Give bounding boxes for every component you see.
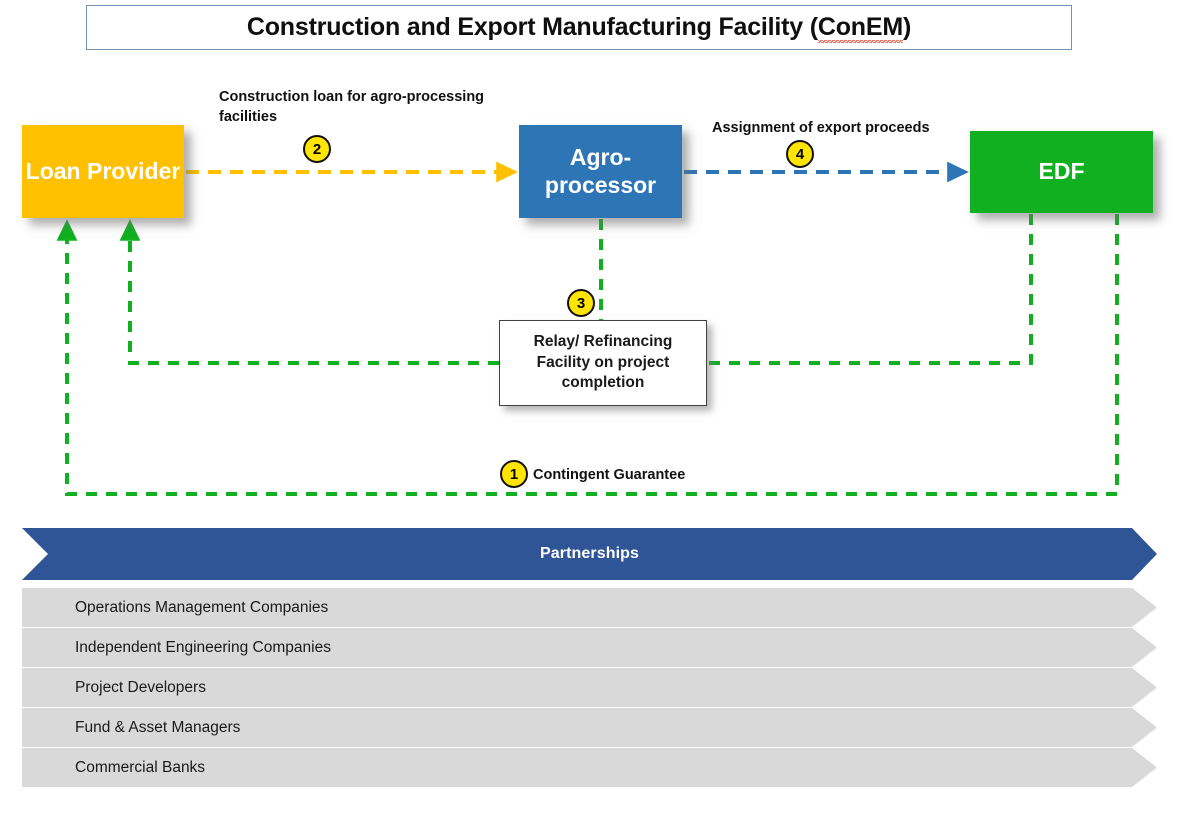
entity-loan-provider[interactable]: Loan Provider <box>22 125 184 218</box>
partnerships-list: Operations Management Companies Independ… <box>22 588 1157 788</box>
list-item-label: Fund & Asset Managers <box>22 719 240 737</box>
partnerships-title: Partnerships <box>540 545 639 563</box>
flow-line-relay-from-edf <box>707 214 1031 363</box>
diagram-canvas: Construction and Export Manufacturing Fa… <box>0 0 1194 817</box>
list-item[interactable]: Project Developers <box>22 668 1157 707</box>
partnerships-banner: Partnerships <box>22 528 1157 580</box>
step-badge-1: 1 <box>500 460 528 488</box>
entity-edf[interactable]: EDF <box>970 131 1153 213</box>
title-text-main: Construction and Export Manufacturing Fa… <box>247 13 818 41</box>
step-badge-3: 3 <box>567 289 595 317</box>
relay-refinancing-box[interactable]: Relay/ Refinancing Facility on project c… <box>499 320 707 406</box>
list-item[interactable]: Commercial Banks <box>22 748 1157 787</box>
entity-agro-processor[interactable]: Agro-processor <box>519 125 682 218</box>
list-item-label: Project Developers <box>22 679 206 697</box>
list-item-label: Commercial Banks <box>22 759 205 777</box>
list-item[interactable]: Operations Management Companies <box>22 588 1157 627</box>
title-box: Construction and Export Manufacturing Fa… <box>86 5 1072 50</box>
flow-label-contingent-guarantee: Contingent Guarantee <box>533 466 685 486</box>
flow-line-relay-to-loan-provider <box>130 224 499 363</box>
step-badge-2: 2 <box>303 135 331 163</box>
page-title: Construction and Export Manufacturing Fa… <box>247 13 911 42</box>
title-text-tail: ) <box>903 13 911 41</box>
list-item-label: Independent Engineering Companies <box>22 639 331 657</box>
list-item-label: Operations Management Companies <box>22 599 328 617</box>
flow-label-export-proceeds: Assignment of export proceeds <box>712 119 930 139</box>
step-badge-4: 4 <box>786 140 814 168</box>
list-item[interactable]: Independent Engineering Companies <box>22 628 1157 667</box>
list-item[interactable]: Fund & Asset Managers <box>22 708 1157 747</box>
flow-label-construction-loan: Construction loan for agro-processing fa… <box>219 88 539 127</box>
title-misspelled-word: ConEM <box>818 13 903 43</box>
